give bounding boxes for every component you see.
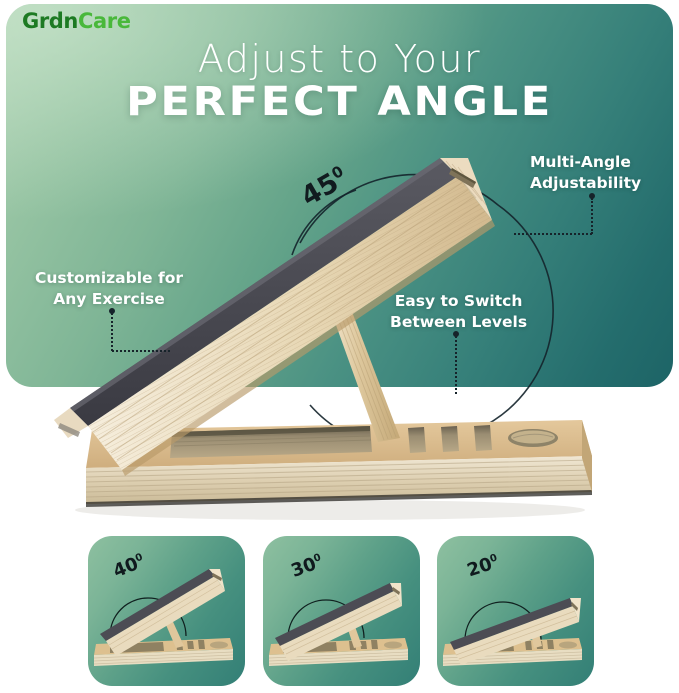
angle-variant-thumbnail-row: 400 30 — [88, 536, 594, 688]
callout-customizable-line2: Any Exercise — [35, 289, 183, 310]
callout-customizable: Customizable for Any Exercise — [35, 268, 183, 310]
leader-horizontal-segment — [112, 350, 170, 352]
headline-subtitle: Adjust to Your — [0, 40, 679, 78]
callout-multi-angle: Multi-Angle Adjustability — [530, 152, 641, 194]
callout-multi-angle-line1: Multi-Angle — [530, 152, 641, 173]
thumbnail-angle-30[interactable]: 300 — [263, 536, 420, 686]
leader-vertical-segment — [591, 198, 593, 234]
callout-easy-switch-line1: Easy to Switch — [390, 291, 527, 312]
thumbnail-angle-40[interactable]: 400 — [88, 536, 245, 686]
base-notch-slots — [408, 425, 492, 453]
thumbnail-angle-20[interactable]: 200 — [437, 536, 594, 686]
brand-logo-part1: Grdn — [22, 9, 78, 33]
headline-title: PERFECT ANGLE — [0, 82, 679, 122]
leader-customizable — [112, 311, 182, 357]
brand-logo: GrdnCare — [22, 11, 131, 32]
thumbnail-20-illustration — [437, 536, 594, 686]
leader-easy-switch — [456, 334, 466, 398]
leader-vertical-segment — [111, 313, 113, 351]
base-grip-handle — [508, 429, 558, 447]
callout-easy-switch: Easy to Switch Between Levels — [390, 291, 527, 333]
callout-easy-switch-line2: Between Levels — [390, 312, 527, 333]
thumbnail-30-illustration — [263, 536, 420, 686]
leader-multi-angle — [592, 196, 679, 242]
leader-horizontal-segment — [514, 233, 592, 235]
callout-customizable-line1: Customizable for — [35, 268, 183, 289]
brand-logo-part2: Care — [78, 9, 131, 33]
leader-vertical-segment — [455, 336, 457, 394]
callout-multi-angle-line2: Adjustability — [530, 173, 641, 194]
thumbnail-40-illustration — [88, 536, 245, 686]
